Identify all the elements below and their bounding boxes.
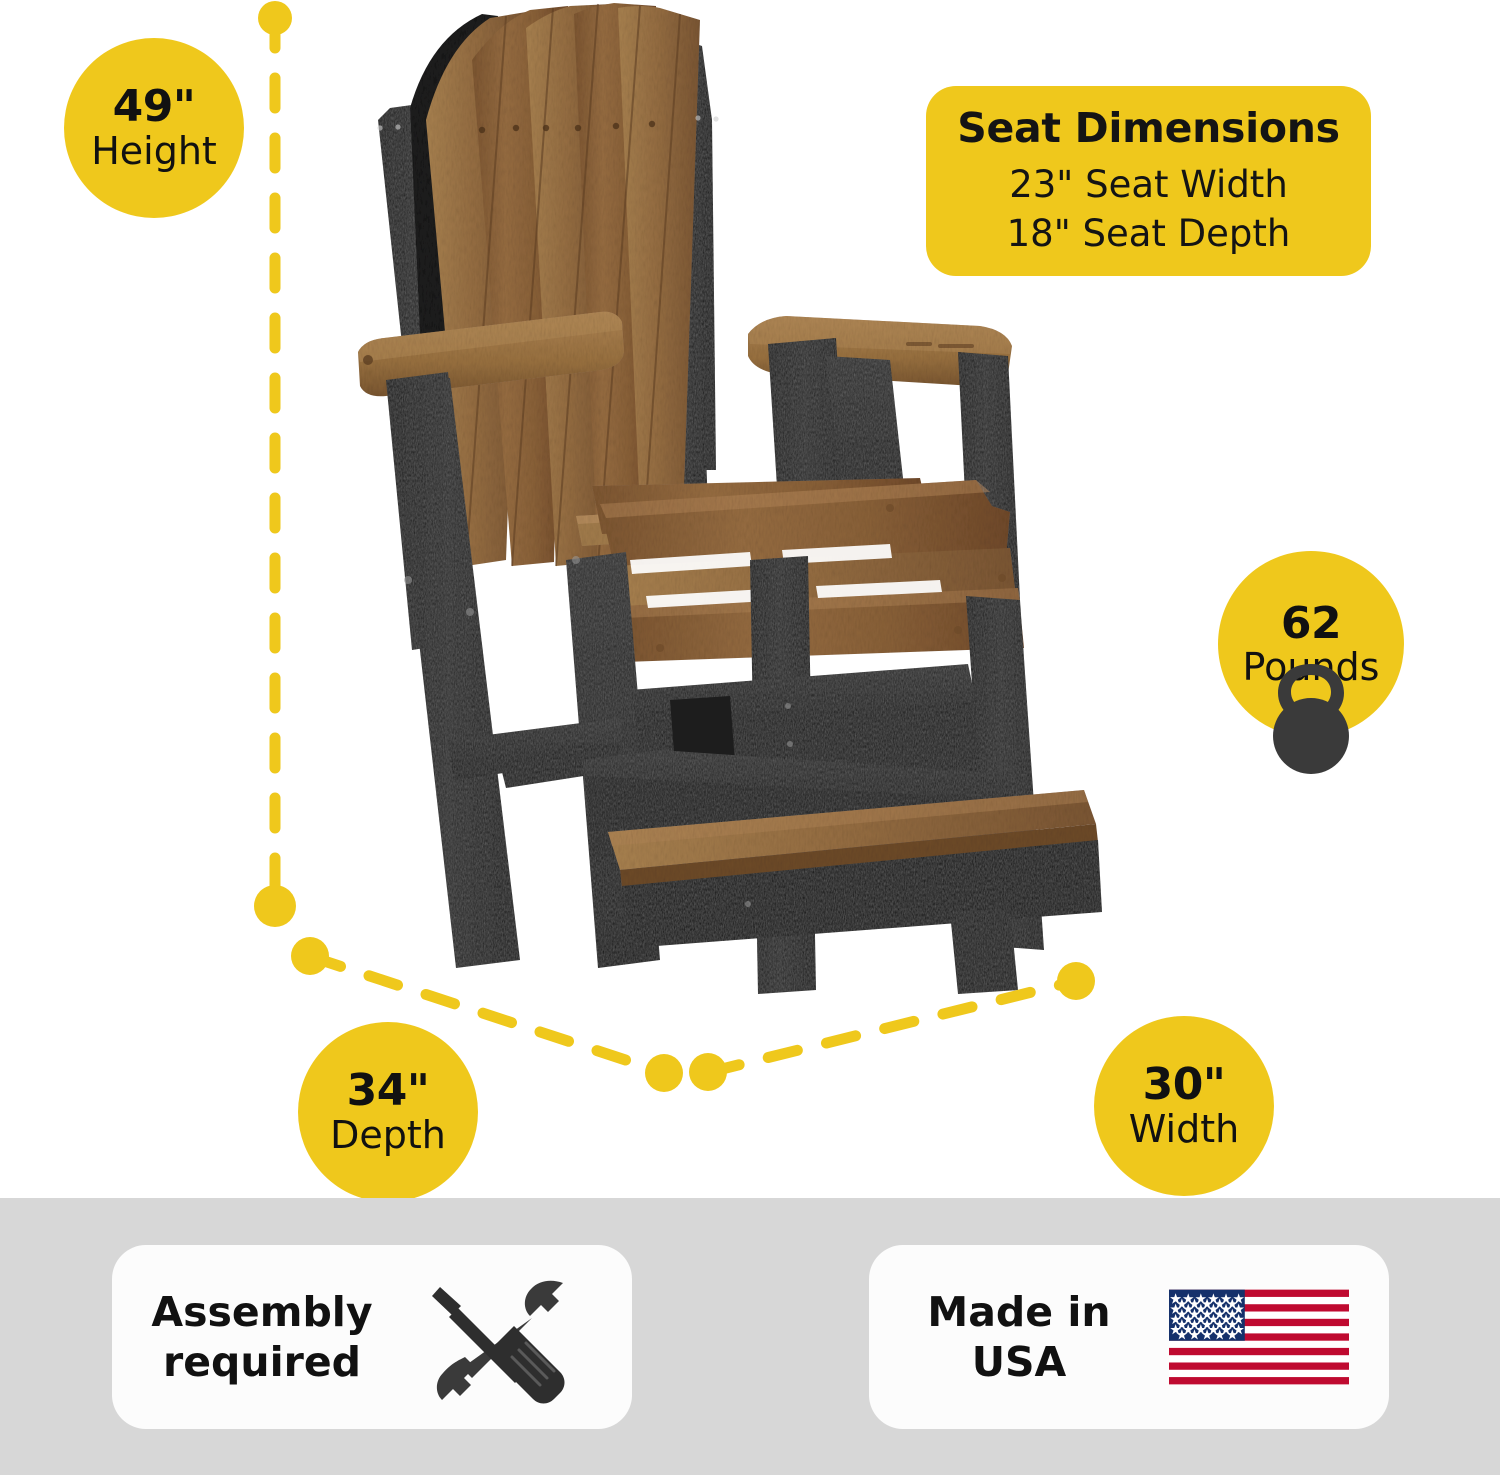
depth-label: Depth (330, 1116, 446, 1155)
height-label: Height (91, 132, 217, 171)
wrench-screwdriver-icon (412, 1267, 592, 1407)
seat-dimensions-card: Seat Dimensions 23" Seat Width 18" Seat … (926, 86, 1371, 276)
kettlebell-icon (1258, 660, 1364, 776)
made-in-usa-card: Made in USA (869, 1245, 1389, 1429)
weight-value: 62 (1281, 602, 1341, 647)
depth-value: 34" (347, 1069, 430, 1114)
assembly-text: Assembly required (112, 1287, 412, 1388)
depth-badge: 34" Depth (298, 1022, 478, 1202)
usa-line-2: USA (869, 1337, 1169, 1387)
assembly-line-1: Assembly (112, 1287, 412, 1337)
made-in-usa-text: Made in USA (869, 1287, 1169, 1388)
width-badge: 30" Width (1094, 1016, 1274, 1196)
usa-flag-icon (1169, 1267, 1349, 1407)
seat-dimensions-title: Seat Dimensions (957, 104, 1339, 152)
footer-bar: Assembly required (0, 1198, 1500, 1475)
assembly-required-card: Assembly required (112, 1245, 632, 1429)
usa-line-1: Made in (869, 1287, 1169, 1337)
assembly-line-2: required (112, 1337, 412, 1387)
height-value: 49" (113, 85, 196, 130)
width-label: Width (1129, 1110, 1239, 1149)
seat-width-line: 23" Seat Width (1009, 161, 1288, 210)
height-badge: 49" Height (64, 38, 244, 218)
infographic-stage: 49" Height 34" Depth 30" Width 62 Pounds… (0, 0, 1500, 1475)
seat-depth-line: 18" Seat Depth (1007, 210, 1291, 259)
width-value: 30" (1143, 1063, 1226, 1108)
